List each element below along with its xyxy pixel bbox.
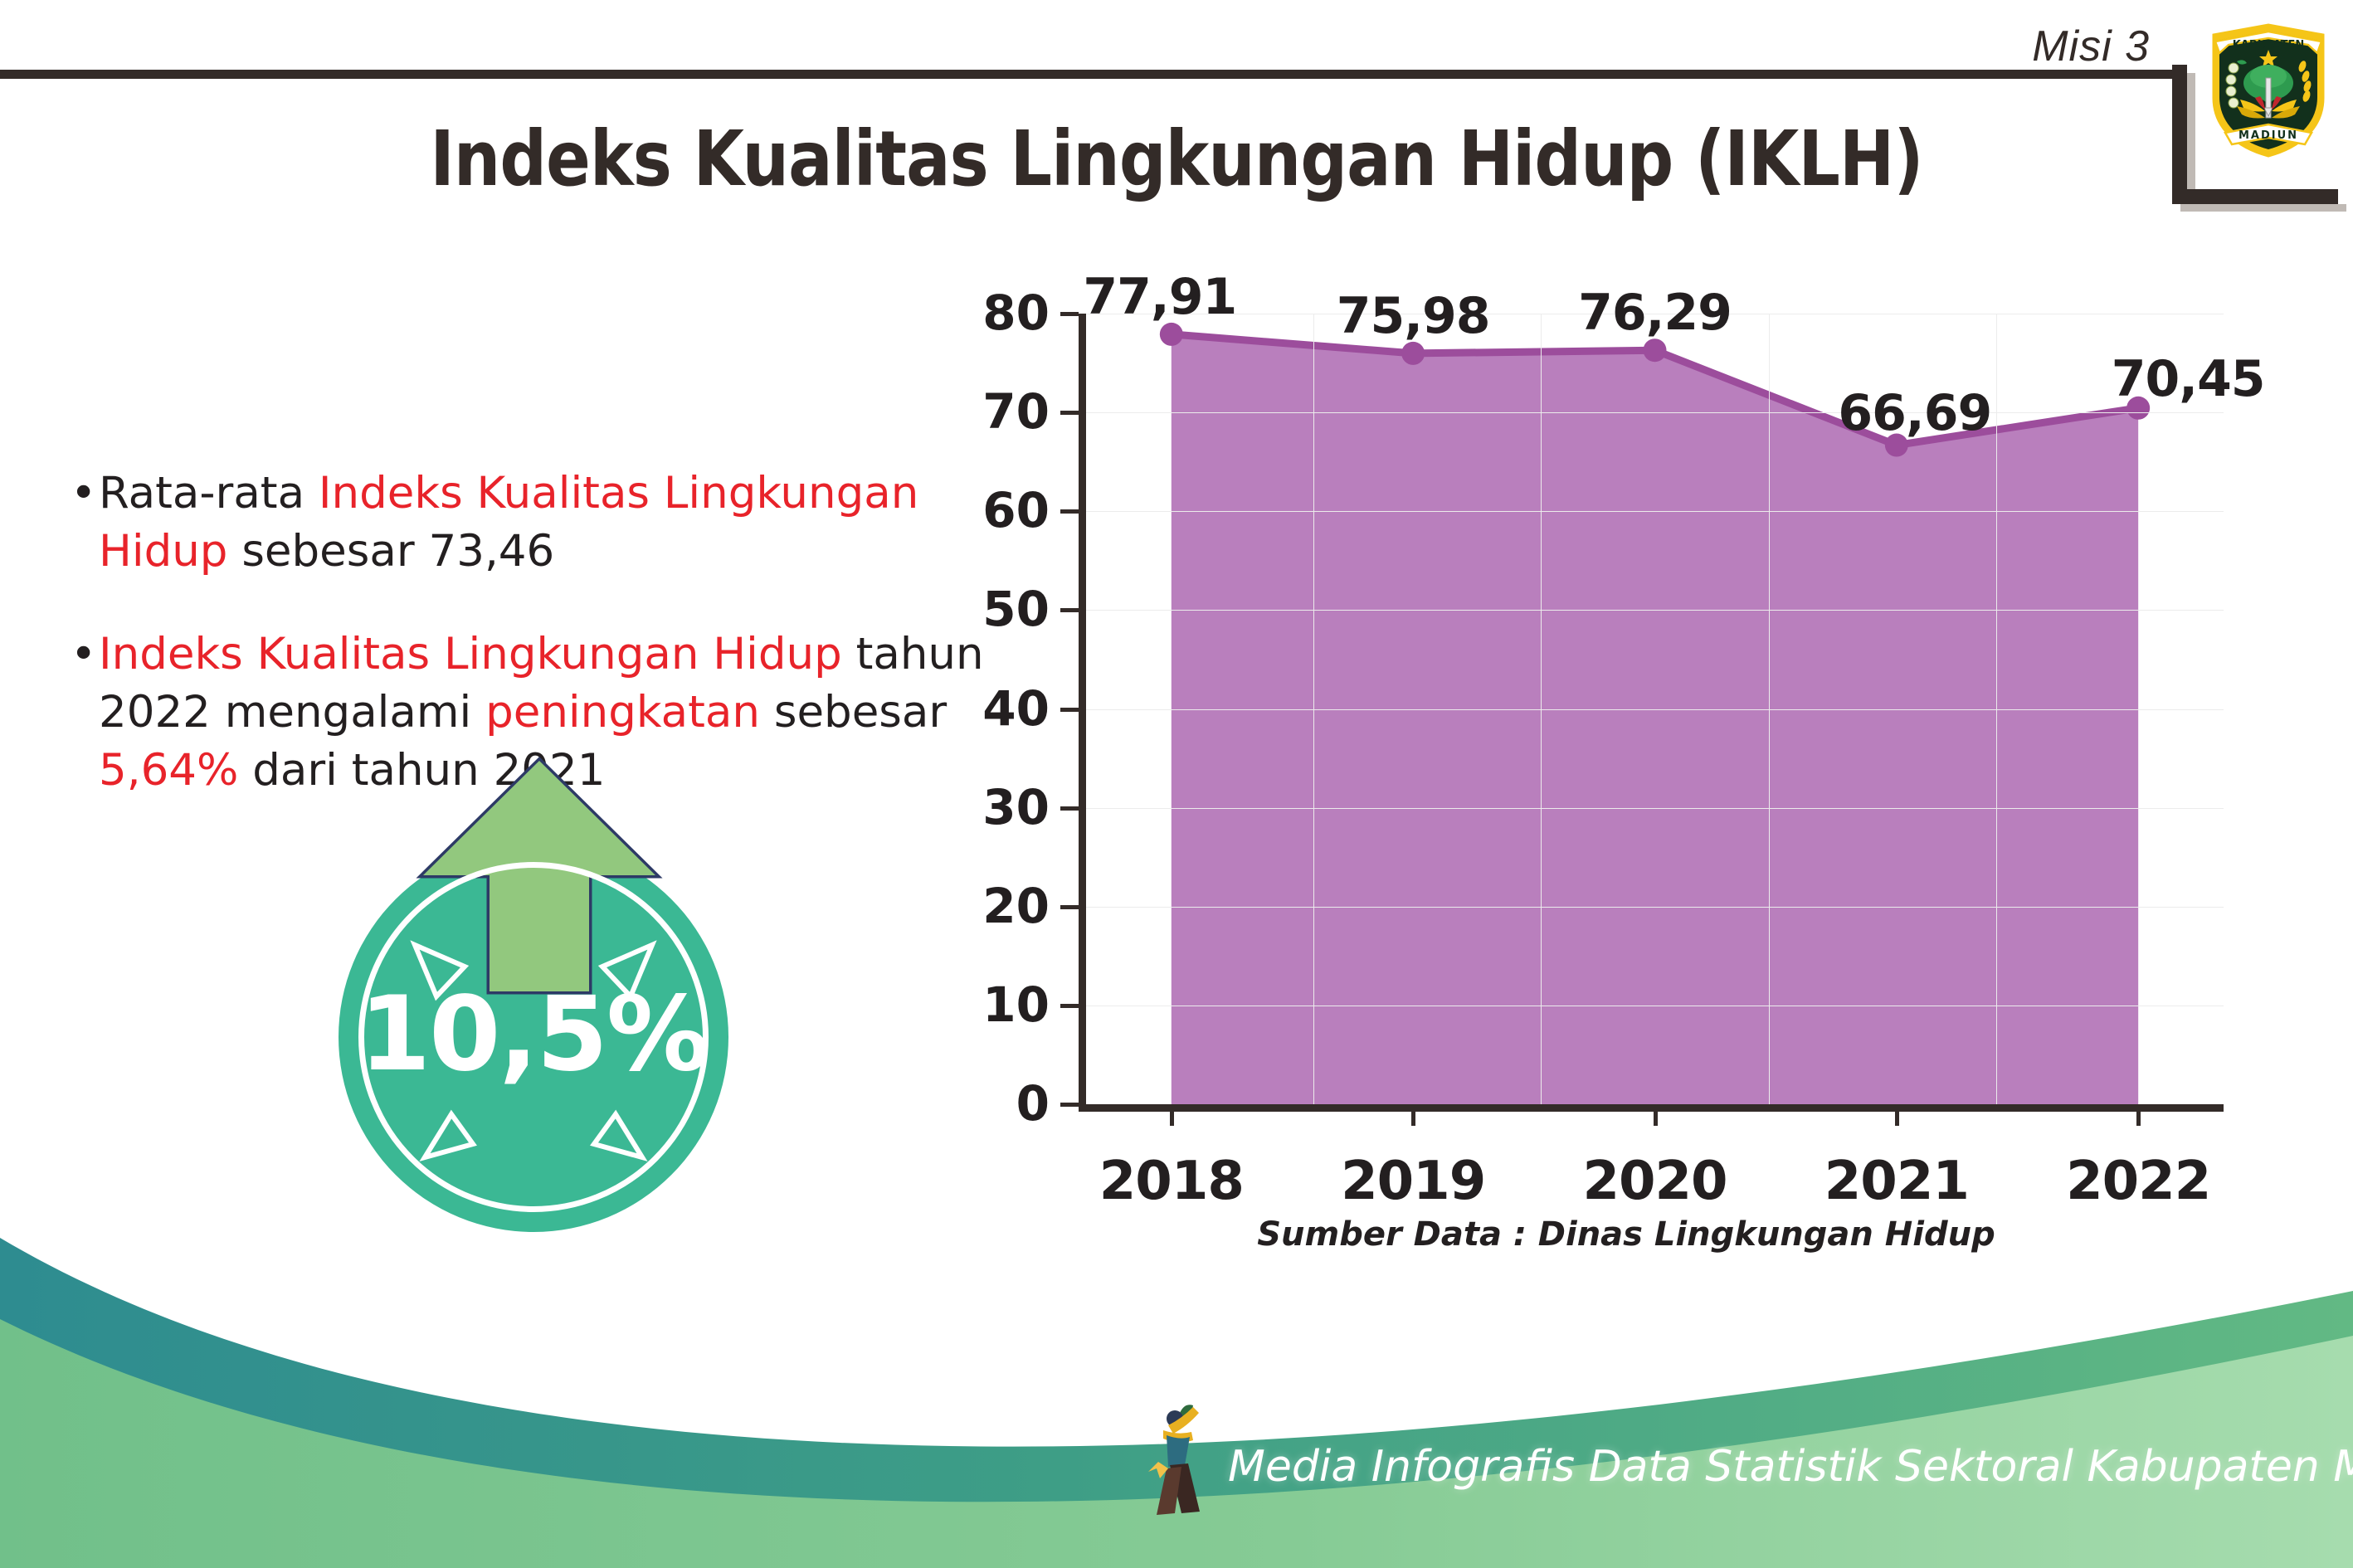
svg-text:KABUPATEN: KABUPATEN [2233, 39, 2305, 51]
badge-value-text: 10,5% [339, 983, 728, 1086]
x-axis-tick [1411, 1104, 1415, 1126]
page-title: Indeks Kualitas Lingkungan Hidup (IKLH) [165, 114, 2189, 203]
y-axis-label: 10 [982, 981, 1050, 1029]
gridline-vertical [1313, 314, 1314, 1104]
statistics-person-icon [1145, 1392, 1225, 1517]
y-axis-label: 60 [982, 486, 1050, 534]
bullet-1-part-1: Rata-rata [99, 468, 319, 519]
iklh-area-chart: 010203040506070802018201920202021202277,… [962, 299, 2290, 1278]
kabupaten-madiun-logo: KABUPATEN [2207, 18, 2330, 159]
gridline-horizontal [1086, 907, 2224, 908]
gridline-vertical [1769, 314, 1770, 1104]
data-point-label: 76,29 [1578, 284, 1732, 342]
y-axis-tick [1060, 312, 1079, 316]
bullet-2-part-4: sebesar [760, 687, 947, 738]
y-axis-tick [1060, 708, 1079, 712]
bullet-1-part-3: sebesar 73,46 [227, 526, 554, 577]
gridline-horizontal [1086, 808, 2224, 809]
gridline-horizontal [1086, 709, 2224, 710]
y-axis-tick [1060, 806, 1079, 811]
x-axis-tick [1654, 1104, 1658, 1126]
y-axis-tick [1060, 1004, 1079, 1008]
x-axis-tick [2136, 1104, 2141, 1126]
infographic-slide: Misi 3 KABUPATEN [0, 0, 2353, 1568]
y-axis-label: 20 [982, 882, 1050, 930]
x-axis-label: 2021 [1824, 1151, 1969, 1212]
x-axis-tick [1170, 1104, 1174, 1126]
gridline-horizontal [1086, 610, 2224, 611]
bullet-dot-icon: • [71, 465, 96, 523]
gridline-horizontal [1086, 412, 2224, 413]
y-axis-tick [1060, 509, 1079, 514]
bullet-text: Rata-rata Indeks Kualitas Lingkungan Hid… [99, 468, 918, 577]
y-axis-label: 40 [982, 684, 1050, 733]
y-axis-tick [1060, 905, 1079, 909]
y-axis-label: 80 [982, 289, 1050, 337]
y-axis-tick [1060, 608, 1079, 612]
y-axis-tick [1060, 411, 1079, 415]
gridline-vertical [1541, 314, 1542, 1104]
y-axis-label: 0 [1016, 1079, 1050, 1127]
bullet-2-part-3: peningkatan [485, 687, 760, 738]
data-point-label: 77,91 [1083, 268, 1236, 326]
increase-badge: 10,5% [324, 751, 772, 1215]
bullet-dot-icon: • [71, 626, 96, 684]
x-axis-label: 2019 [1341, 1151, 1485, 1212]
bullet-2-part-5: 5,64% [99, 745, 238, 796]
x-axis-tick [1895, 1104, 1899, 1126]
gridline-horizontal [1086, 511, 2224, 512]
y-axis-label: 50 [982, 585, 1050, 633]
footer-wave: Media Infografis Data Statistik Sektoral… [0, 1220, 2353, 1568]
mission-label: Misi 3 [2032, 22, 2150, 71]
gridline-vertical [1996, 314, 1997, 1104]
svg-text:MADIUN: MADIUN [2239, 129, 2298, 142]
header-divider-rule [0, 70, 2180, 79]
y-axis-tick [1060, 1103, 1079, 1107]
footer-caption: Media Infografis Data Statistik Sektoral… [1228, 1442, 2353, 1492]
data-point-label: 66,69 [1838, 384, 1991, 442]
x-axis-label: 2022 [2066, 1151, 2210, 1212]
bullet-2-part-1: Indeks Kualitas Lingkungan Hidup [99, 629, 842, 679]
data-point-label: 70,45 [2112, 350, 2265, 408]
y-axis-label: 70 [982, 387, 1050, 436]
y-axis-label: 30 [982, 783, 1050, 831]
x-axis-label: 2020 [1582, 1151, 1727, 1212]
list-item: • Rata-rata Indeks Kualitas Lingkungan H… [71, 465, 991, 581]
chart-plot-area: 010203040506070802018201920202021202277,… [1079, 314, 2224, 1112]
x-axis-label: 2018 [1099, 1151, 1244, 1212]
data-point-label: 75,98 [1337, 287, 1490, 345]
gridline-horizontal [1086, 1006, 2224, 1006]
